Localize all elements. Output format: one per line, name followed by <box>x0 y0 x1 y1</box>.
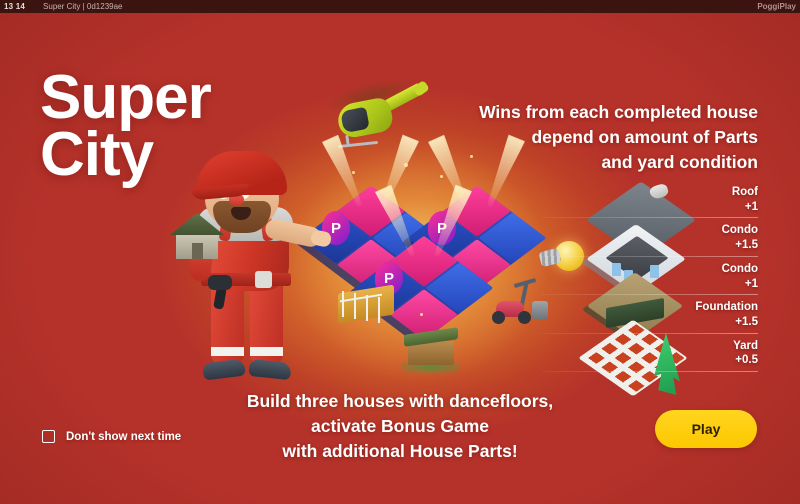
page-title: Super City <box>40 69 211 183</box>
checkbox-icon[interactable] <box>42 430 55 443</box>
dont-show-next-time-checkbox[interactable]: Don't show next time <box>42 430 181 443</box>
part-row: Foundation +1.5 <box>626 300 758 333</box>
headline-line-1: Wins from each completed house <box>428 100 758 125</box>
part-row: Condo +1 <box>626 262 758 295</box>
part-value: +1 <box>626 277 758 292</box>
part-value: +1.5 <box>626 315 758 330</box>
headline-line-3: and yard condition <box>428 150 758 175</box>
tagline-text: Build three houses with dancefloors, act… <box>160 389 640 464</box>
part-value: +1.5 <box>626 238 758 253</box>
game-window: 13 14 Super City | 0d1239ae PoggiPlay <box>0 0 800 504</box>
parts-payout-list: Roof +1 Condo +1.5 Condo +1 Foundation +… <box>626 185 758 377</box>
tagline-line-2: activate Bonus Game <box>160 414 640 439</box>
game-title-line-1: Super <box>40 69 211 126</box>
tagline-line-1: Build three houses with dancefloors, <box>160 389 640 414</box>
part-row: Condo +1.5 <box>626 223 758 256</box>
headline-line-2: depend on amount of Parts <box>428 125 758 150</box>
window-titlebar: 13 14 Super City | 0d1239ae PoggiPlay <box>0 0 800 13</box>
part-name: Condo <box>626 262 758 277</box>
part-value: +1 <box>626 200 758 215</box>
part-name: Foundation <box>626 300 758 315</box>
part-row: Roof +1 <box>626 185 758 218</box>
titlebar-title: Super City | 0d1239ae <box>43 2 122 11</box>
dont-show-label: Don't show next time <box>66 431 181 443</box>
part-name: Condo <box>626 223 758 238</box>
play-button[interactable]: Play <box>655 410 757 448</box>
game-stage: P P P <box>0 13 800 504</box>
headline-text: Wins from each completed house depend on… <box>428 100 758 175</box>
part-name: Roof <box>626 185 758 200</box>
tagline-line-3: with additional House Parts! <box>160 439 640 464</box>
part-value: +0.5 <box>626 353 758 368</box>
part-name: Yard <box>626 339 758 354</box>
part-row: Yard +0.5 <box>626 339 758 372</box>
titlebar-clock: 13 14 <box>0 2 25 11</box>
titlebar-brand: PoggiPlay <box>757 2 800 11</box>
game-title-line-2: City <box>40 126 211 183</box>
